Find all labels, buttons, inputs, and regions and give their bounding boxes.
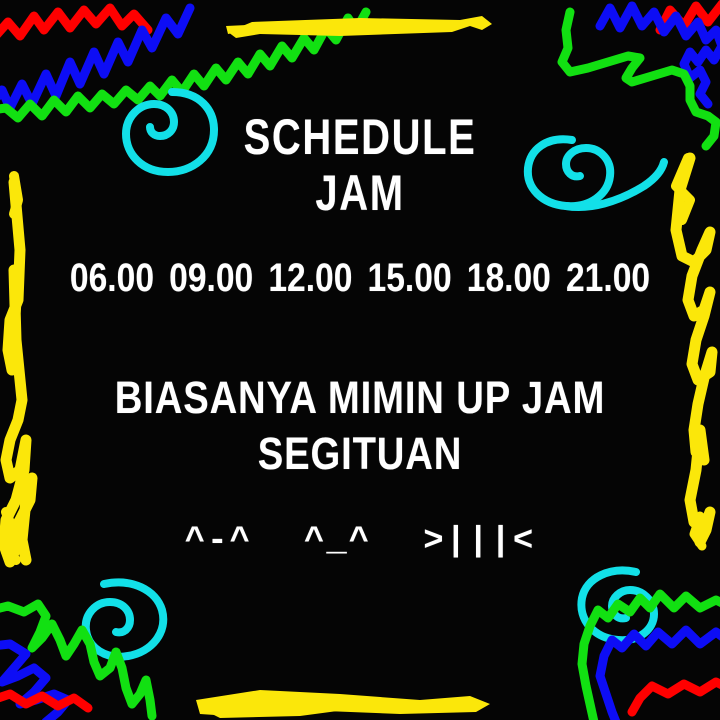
schedule-time-4: 18.00 <box>459 256 558 300</box>
emoticon-row: ^-^^_^>|||< <box>0 520 720 564</box>
emoticon-0: ^-^ <box>159 520 278 564</box>
emoticon-2: >|||< <box>397 520 561 564</box>
caption-line-1: BIASANYA MIMIN UP JAM <box>54 374 666 422</box>
schedule-time-1: 09.00 <box>162 256 261 300</box>
poster-canvas: SCHEDULE JAM 06.0009.0012.0015.0018.0021… <box>0 0 720 720</box>
poster-content: SCHEDULE JAM 06.0009.0012.0015.0018.0021… <box>0 0 720 720</box>
schedule-time-2: 12.00 <box>261 256 360 300</box>
schedule-times-row: 06.0009.0012.0015.0018.0021.00 <box>58 256 663 300</box>
emoticon-1: ^_^ <box>278 520 397 564</box>
schedule-time-0: 06.00 <box>62 256 161 300</box>
schedule-time-5: 21.00 <box>558 256 657 300</box>
caption-line-2: SEGITUAN <box>54 430 666 478</box>
schedule-time-3: 15.00 <box>360 256 459 300</box>
page-title-line-2: JAM <box>72 168 648 218</box>
page-title-line-1: SCHEDULE <box>72 112 648 162</box>
